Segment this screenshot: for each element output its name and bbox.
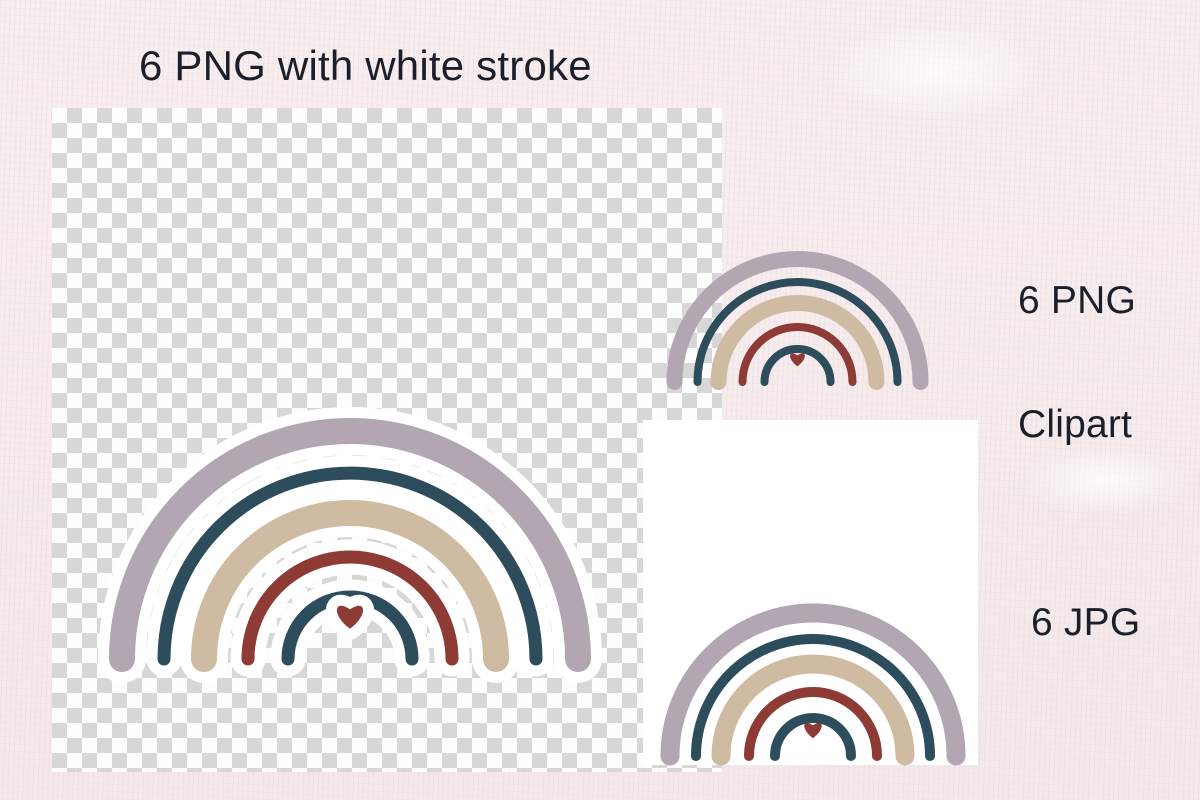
rainbow-jpg[interactable] — [658, 450, 968, 762]
heart-icon — [804, 723, 821, 738]
png-clipart-label-line2: Clipart — [1018, 404, 1136, 445]
jpg-label: 6 JPG — [1031, 602, 1140, 643]
arc-darkred-fourth — [749, 692, 877, 756]
rainbow-png-white-stroke[interactable] — [95, 215, 605, 665]
arc-darkred-fourth — [743, 327, 853, 382]
png-clipart-label: 6 PNG Clipart — [1018, 197, 1136, 486]
heart-icon — [790, 353, 805, 366]
rainbow-png-clipart[interactable] — [665, 110, 930, 388]
page-title: 6 PNG with white stroke — [139, 44, 592, 89]
png-clipart-label-line1: 6 PNG — [1018, 280, 1136, 321]
